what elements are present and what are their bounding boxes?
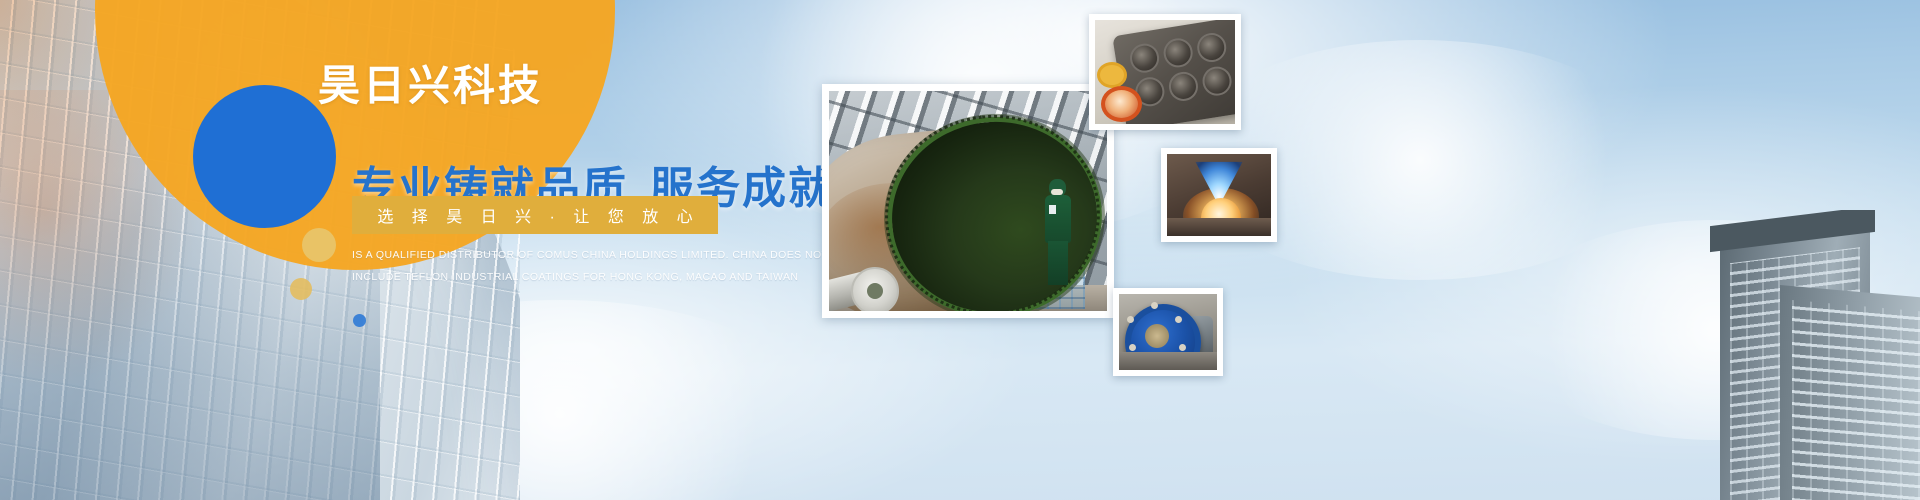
tray-cup (1162, 36, 1195, 69)
flame-base-surface (1167, 218, 1271, 236)
tagline-bar: 选 择 昊 日 兴 · 让 您 放 心 (352, 196, 718, 234)
tray-cup (1167, 70, 1200, 103)
photo-inner (1119, 294, 1217, 370)
tray-cup (1200, 65, 1233, 98)
yellow-dot-shape (302, 228, 336, 262)
workshop-floor (1119, 352, 1217, 370)
worker-figure (1045, 179, 1071, 285)
tower-windows (1792, 300, 1920, 500)
tank-side-flange (851, 267, 899, 311)
coated-bakeware-photo (1089, 14, 1241, 130)
industrial-tank-coating-photo (822, 84, 1114, 318)
flange-bolt (1127, 316, 1134, 323)
office-towers (1510, 210, 1920, 500)
tower-right (1780, 285, 1920, 500)
orange-coated-ring (1101, 86, 1142, 122)
blue-coated-flange-photo (1113, 288, 1223, 376)
legal-line-2: INCLUDE TEFLON INDUSTRIAL COATINGS FOR H… (352, 270, 772, 284)
legal-disclaimer: IS A QUALIFIED DISTRIBUTOR OF COMUS CHIN… (352, 248, 772, 292)
tray-cup (1128, 42, 1161, 75)
yellow-dot-shape (290, 278, 312, 300)
flame-spray-coating-photo (1161, 148, 1277, 242)
photo-inner (1167, 154, 1271, 236)
blue-circle-shape (193, 85, 336, 228)
flange-bolt (1179, 344, 1186, 351)
tagline-text: 选 择 昊 日 兴 · 让 您 放 心 (370, 203, 699, 227)
flange-bolt (1175, 316, 1182, 323)
worker-torso (1045, 195, 1071, 243)
brand-title: 昊日兴科技 (318, 52, 543, 113)
photo-inner (829, 91, 1107, 311)
photo-inner (1095, 20, 1235, 124)
blue-dot-shape (353, 314, 366, 327)
legal-line-1: IS A QUALIFIED DISTRIBUTOR OF COMUS CHIN… (352, 248, 772, 262)
worker-badge (1049, 205, 1056, 214)
tray-cup (1195, 31, 1228, 64)
worker-legs (1048, 241, 1068, 285)
hero-banner: 昊日兴科技 专业铸就品质服务成就辉煌 选 择 昊 日 兴 · 让 您 放 心 I… (0, 0, 1920, 500)
flange-bolt (1151, 302, 1158, 309)
flange-bolt (1129, 344, 1136, 351)
yellow-coated-ring (1097, 62, 1127, 88)
